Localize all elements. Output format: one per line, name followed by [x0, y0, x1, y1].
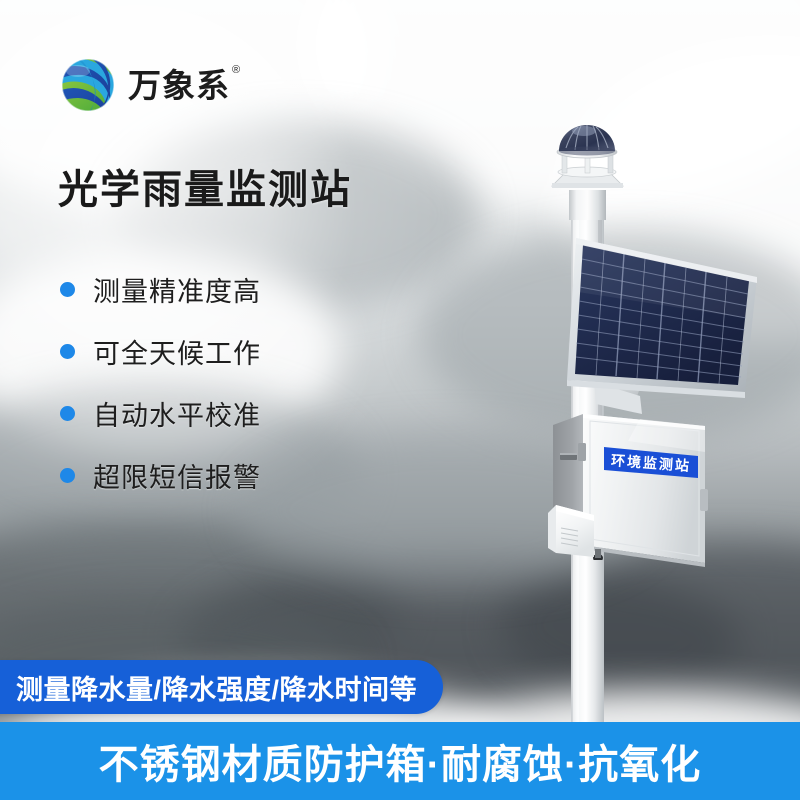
bullet-dot-icon — [60, 468, 75, 483]
measurement-banner-text: 测量降水量/降水强度/降水时间等 — [16, 668, 417, 707]
brand-name-text: 万象系 — [128, 67, 230, 104]
measurement-banner: 测量降水量/降水强度/降水时间等 — [0, 660, 443, 714]
brand-logo: 万象系® — [60, 57, 239, 113]
feature-item: 自动水平校准 — [60, 382, 261, 444]
bullet-dot-icon — [60, 406, 75, 421]
bottom-banner-text: 不锈钢材质防护箱·耐腐蚀·抗氧化 — [99, 732, 702, 790]
globe-swirl-logo-icon — [60, 57, 116, 113]
feature-label: 自动水平校准 — [93, 394, 261, 433]
feature-item: 超限短信报警 — [60, 444, 261, 506]
product-poster: 环境监测站 — [0, 0, 800, 800]
bottom-banner: 不锈钢材质防护箱·耐腐蚀·抗氧化 — [0, 722, 800, 800]
feature-label: 测量精准度高 — [93, 270, 261, 309]
feature-item: 可全天候工作 — [60, 320, 261, 382]
bullet-dot-icon — [60, 344, 75, 359]
brand-name: 万象系® — [128, 69, 239, 102]
feature-label: 可全天候工作 — [93, 332, 261, 371]
feature-item: 测量精准度高 — [60, 258, 261, 320]
registered-mark: ® — [232, 64, 241, 76]
feature-label: 超限短信报警 — [93, 456, 261, 495]
page-title: 光学雨量监测站 — [58, 168, 352, 213]
bullet-dot-icon — [60, 282, 75, 297]
feature-list: 测量精准度高 可全天候工作 自动水平校准 超限短信报警 — [60, 258, 261, 506]
cloud-mid — [240, 430, 660, 590]
